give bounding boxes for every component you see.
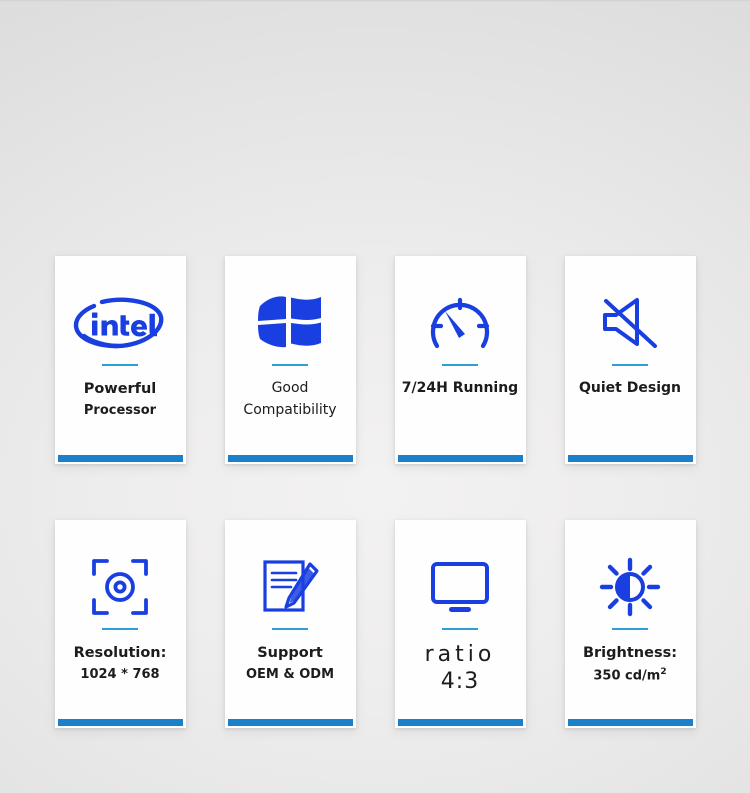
windows-logo-icon [254, 286, 326, 360]
feature-card-ratio[interactable]: ratio 4:3 [395, 520, 526, 728]
intel-logo-icon [72, 286, 168, 360]
feature-card-text: Resolution: 1024 * 768 [69, 643, 172, 684]
brightness-sun-icon [599, 550, 661, 624]
card-divider [272, 364, 308, 366]
feature-card-text: ratio 4:3 [420, 643, 501, 697]
feature-label-line-2: 4:3 [425, 666, 496, 697]
monitor-display-icon [427, 550, 493, 624]
feature-label-line-1: Good [243, 379, 336, 399]
feature-label-line-2: Processor [84, 402, 157, 420]
card-divider [442, 628, 478, 630]
card-accent-bar [228, 455, 353, 462]
card-divider [612, 364, 648, 366]
feature-card-support-oem-odm[interactable]: Support OEM & ODM [225, 520, 356, 728]
feature-label-line-1: Brightness: [583, 643, 677, 664]
feature-label-line-1: ratio [425, 643, 496, 666]
feature-card-good-compatibility[interactable]: Good Compatibility [225, 256, 356, 464]
feature-label-line-1: Support [246, 643, 334, 664]
feature-card-resolution[interactable]: Resolution: 1024 * 768 [55, 520, 186, 728]
feature-card-quiet-design[interactable]: Quiet Design [565, 256, 696, 464]
feature-card-724h-running[interactable]: 7/24H Running [395, 256, 526, 464]
feature-card-grid: Powerful Processor [0, 256, 750, 728]
gauge-speedometer-icon [425, 286, 495, 360]
feature-card-brightness[interactable]: Brightness: 350 cd/m2 [565, 520, 696, 728]
feature-label-line-2: OEM & ODM [246, 666, 334, 684]
card-accent-bar [568, 455, 693, 462]
feature-label-line-1: Quiet Design [579, 379, 681, 399]
speaker-muted-icon [597, 286, 663, 360]
feature-card-text: Support OEM & ODM [241, 643, 339, 684]
feature-card-text: Brightness: 350 cd/m2 [578, 643, 682, 685]
feature-card-text: Quiet Design [574, 379, 686, 399]
card-accent-bar [228, 719, 353, 726]
card-divider [102, 628, 138, 630]
feature-label-line-2: 1024 * 768 [74, 666, 167, 684]
feature-label-line-2: Compatibility [243, 401, 336, 421]
feature-card-text: Powerful Processor [79, 379, 162, 420]
feature-row-1: Powerful Processor [0, 256, 750, 464]
feature-label-line-1: Powerful [84, 379, 157, 400]
brightness-unit-exponent: 2 [660, 667, 666, 677]
card-accent-bar [568, 719, 693, 726]
card-accent-bar [398, 719, 523, 726]
card-divider [442, 364, 478, 366]
feature-card-text: 7/24H Running [397, 379, 523, 399]
feature-card-powerful-processor[interactable]: Powerful Processor [55, 256, 186, 464]
document-pencil-icon [258, 550, 322, 624]
card-divider [272, 628, 308, 630]
focus-viewfinder-icon [89, 550, 151, 624]
feature-label-line-2: 350 cd/m2 [583, 666, 677, 686]
card-divider [612, 628, 648, 630]
feature-row-2: Resolution: 1024 * 768 [0, 520, 750, 728]
brightness-value: 350 cd/m [593, 668, 660, 683]
card-accent-bar [58, 719, 183, 726]
feature-card-text: Good Compatibility [238, 379, 341, 421]
card-accent-bar [58, 455, 183, 462]
feature-label-line-1: Resolution: [74, 643, 167, 664]
page-root: Crafted with ingenuity overwhelming supe… [0, 0, 750, 793]
feature-label-line-1: 7/24H Running [402, 379, 518, 399]
card-divider [102, 364, 138, 366]
card-accent-bar [398, 455, 523, 462]
